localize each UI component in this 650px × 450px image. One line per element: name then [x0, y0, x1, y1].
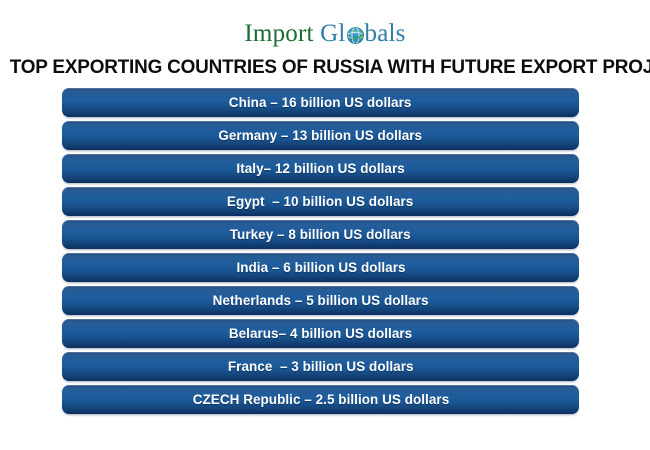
bar-row: Italy– 12 billion US dollars: [62, 154, 579, 183]
bar-row-label: Turkey – 8 billion US dollars: [230, 227, 411, 243]
bar-row: France – 3 billion US dollars: [62, 352, 579, 381]
brand-logo: Import Gl bals: [0, 0, 650, 50]
bar-row-label: India – 6 billion US dollars: [236, 260, 405, 276]
globe-icon: [346, 24, 365, 43]
bar-row: Germany – 13 billion US dollars: [62, 121, 579, 150]
bar-row-label: France – 3 billion US dollars: [228, 359, 414, 375]
bar-row-label: CZECH Republic – 2.5 billion US dollars: [192, 392, 448, 408]
page-title: TOP EXPORTING COUNTRIES OF RUSSIA WITH F…: [10, 56, 641, 79]
bar-row: CZECH Republic – 2.5 billion US dollars: [62, 385, 579, 414]
brand-logo-text: Import Gl bals: [244, 20, 405, 48]
bar-row-label: China – 16 billion US dollars: [229, 95, 412, 111]
bar-row-label: Egypt – 10 billion US dollars: [227, 194, 413, 210]
brand-word-globals-prefix: Gl: [320, 20, 345, 47]
bar-row-label: Germany – 13 billion US dollars: [219, 128, 423, 144]
bar-row: Egypt – 10 billion US dollars: [62, 187, 579, 216]
brand-word-globals-suffix: bals: [365, 20, 406, 47]
bar-row: Belarus– 4 billion US dollars: [62, 319, 579, 348]
bar-row-label: Belarus– 4 billion US dollars: [229, 326, 412, 342]
bar-row: India – 6 billion US dollars: [62, 253, 579, 282]
bar-row-label: Netherlands – 5 billion US dollars: [213, 293, 429, 309]
brand-word-import: Import: [244, 20, 313, 47]
bar-row: China – 16 billion US dollars: [62, 88, 579, 117]
bar-row-label: Italy– 12 billion US dollars: [236, 161, 404, 177]
bar-row: Netherlands – 5 billion US dollars: [62, 286, 579, 315]
export-countries-bar-list: China – 16 billion US dollars Germany – …: [62, 88, 579, 418]
bar-row: Turkey – 8 billion US dollars: [62, 220, 579, 249]
